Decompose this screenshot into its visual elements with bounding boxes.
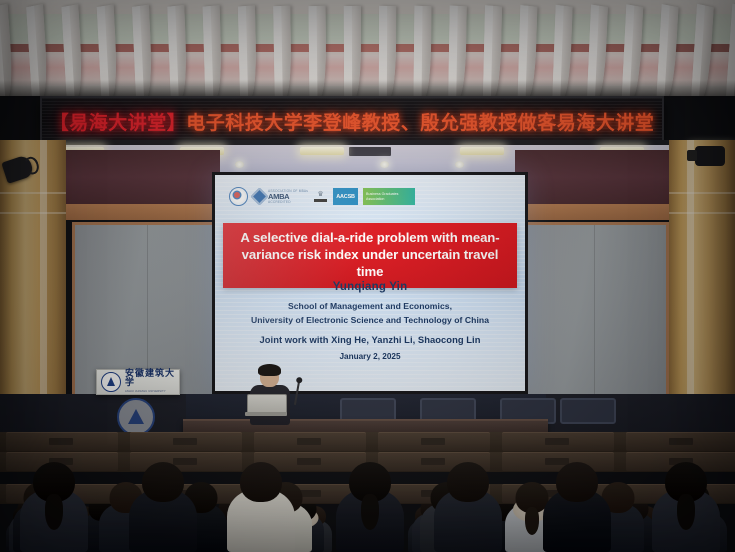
audience-member [543, 462, 611, 552]
banner-main-text: 电子科技大学李登峰教授、殷允强教授做客易海大讲堂 [186, 112, 654, 134]
projection-screen: ASSOCIATION OF MBAs AMBA ACCREDITED ♛ AA… [212, 172, 528, 394]
audience-member [227, 462, 295, 552]
university-sign: 安徽建筑大学 ANHUI JIANZHU UNIVERSITY [96, 369, 180, 395]
seat [6, 432, 118, 451]
seat [254, 432, 366, 451]
audience-member [129, 462, 197, 552]
university-logo-icon [101, 372, 121, 392]
seat [626, 432, 735, 451]
column-ring [669, 212, 735, 214]
presentation-slide: ASSOCIATION OF MBAs AMBA ACCREDITED ♛ AA… [215, 175, 525, 391]
audience-area [0, 418, 735, 552]
ponytail [677, 494, 695, 530]
audience-head [447, 462, 489, 502]
ceiling-downlight [380, 161, 389, 168]
audience-member [336, 462, 404, 552]
right-wall-wood-trim [515, 204, 675, 220]
university-name-en: ANHUI JIANZHU UNIVERSITY [125, 390, 175, 393]
ponytail [361, 494, 379, 530]
seat [130, 432, 242, 451]
left-wall-wood-trim [60, 204, 220, 220]
column-ring [0, 192, 66, 194]
ceiling-downlight [235, 161, 244, 168]
laptop-icon [245, 394, 287, 417]
seat [502, 432, 614, 451]
seat [378, 432, 490, 451]
speaker-hair [258, 364, 281, 376]
right-wall-maroon-panel [515, 150, 675, 204]
ceiling-panel-light [300, 147, 344, 155]
banner-text: 【易海大讲堂】电子科技大学李登峰教授、殷允强教授做客易海大讲堂 [50, 108, 655, 135]
university-name-cn: 安徽建筑大学 [125, 370, 175, 388]
ponytail [525, 507, 539, 535]
audience-head [240, 462, 282, 502]
column-ring [0, 212, 66, 214]
right-acoustic-panel [519, 222, 669, 414]
banner-bracket-text: 【易海大讲堂】 [50, 112, 187, 134]
ceiling-panel-light [460, 147, 504, 155]
ribbed-ceiling [0, 0, 735, 96]
ceiling-downlight [455, 161, 464, 168]
audience-head [142, 462, 184, 502]
lecture-hall-photo: 【易海大讲堂】电子科技大学李登峰教授、殷允强教授做客易海大讲堂 [0, 0, 735, 552]
audience-member [20, 462, 88, 552]
slide-projector-sheen [215, 175, 525, 391]
camera-icon [695, 146, 725, 166]
led-banner: 【易海大讲堂】电子科技大学李登峰教授、殷允强教授做客易海大讲堂 [40, 96, 664, 146]
audience-head [556, 462, 598, 502]
column-ring [669, 192, 735, 194]
audience-member [434, 462, 502, 552]
ceiling-shadow [0, 80, 735, 96]
air-vent [349, 147, 391, 156]
ponytail [45, 494, 63, 530]
left-wall-maroon-panel [60, 150, 220, 204]
audience-member [652, 462, 720, 552]
